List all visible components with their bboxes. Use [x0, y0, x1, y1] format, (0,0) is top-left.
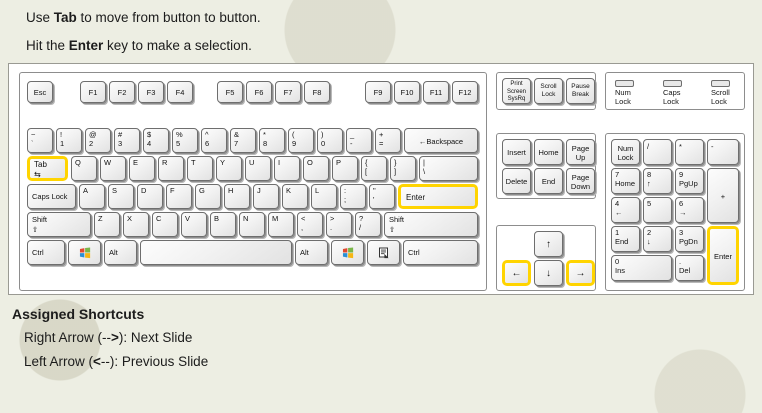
key-alt-right[interactable]: Alt	[295, 240, 328, 265]
key-esc[interactable]: Esc	[27, 81, 53, 103]
key-f12[interactable]: F12	[452, 81, 478, 103]
key-caps-lock[interactable]: Caps Lock	[27, 184, 76, 209]
windows-logo-icon	[342, 247, 353, 258]
key-k[interactable]: K	[282, 184, 308, 209]
key-q[interactable]: Q	[71, 156, 97, 181]
shortcut-left-arrow: Left Arrow (<--): Previous Slide	[24, 353, 762, 371]
shortcut-right-post: ): Next Slide	[119, 330, 193, 345]
key-y[interactable]: Y	[216, 156, 242, 181]
key-f9[interactable]: F9	[365, 81, 391, 103]
key-print-screen[interactable]: Print Screen SysRq	[502, 78, 531, 104]
key-period[interactable]: > .	[326, 212, 352, 237]
key-a[interactable]: A	[79, 184, 105, 209]
intro-line2-post: key to make a selection.	[103, 38, 252, 53]
key-f[interactable]: F	[166, 184, 192, 209]
key-f2[interactable]: F2	[109, 81, 135, 103]
key-u[interactable]: U	[245, 156, 271, 181]
key-0[interactable]: ) 0	[317, 128, 343, 153]
key-n[interactable]: N	[239, 212, 265, 237]
key-space[interactable]	[140, 240, 292, 265]
lamp-label-caps-lock: Caps Lock	[663, 89, 681, 106]
key-insert[interactable]: Insert	[502, 139, 531, 165]
key-bracket-right[interactable]: } ]	[390, 156, 416, 181]
key-1[interactable]: ! 1	[56, 128, 82, 153]
key-e[interactable]: E	[129, 156, 155, 181]
key-numpad-add[interactable]: +	[707, 168, 739, 223]
intro-line1-bold: Tab	[54, 10, 77, 25]
key-num-lock[interactable]: Num Lock	[611, 139, 640, 165]
shortcut-right-bold: >	[111, 330, 119, 345]
key-numpad-6[interactable]: 6 →	[675, 197, 704, 223]
key-j[interactable]: J	[253, 184, 279, 209]
key-numpad-0[interactable]: 0 Ins	[611, 255, 672, 281]
key-comma[interactable]: < ,	[297, 212, 323, 237]
assigned-shortcuts-section: Assigned Shortcuts Right Arrow (-->): Ne…	[0, 295, 762, 370]
key-f8[interactable]: F8	[304, 81, 330, 103]
key-2[interactable]: @ 2	[85, 128, 111, 153]
key-b[interactable]: B	[210, 212, 236, 237]
shortcut-left-bold: <	[93, 354, 101, 369]
lamp-caps-lock	[663, 80, 682, 87]
key-7[interactable]: & 7	[230, 128, 256, 153]
key-f10[interactable]: F10	[394, 81, 420, 103]
lamp-scroll-lock	[711, 80, 730, 87]
key-enter[interactable]: Enter	[398, 184, 478, 209]
key-ctrl-left[interactable]: Ctrl	[27, 240, 65, 265]
intro-line2-bold: Enter	[69, 38, 104, 53]
key-arrow-down[interactable]: ↓	[534, 260, 563, 286]
lamp-num-lock	[615, 80, 634, 87]
key-alt-left[interactable]: Alt	[104, 240, 137, 265]
key-d[interactable]: D	[137, 184, 163, 209]
key-numpad-1[interactable]: 1 End	[611, 226, 640, 252]
key-shift-left[interactable]: Shift ⇧	[27, 212, 91, 237]
key-arrow-left[interactable]: ←	[502, 260, 531, 286]
key-win-right[interactable]	[331, 240, 364, 265]
key-f7[interactable]: F7	[275, 81, 301, 103]
key-minus[interactable]: _ -	[346, 128, 372, 153]
intro-instructions: Use Tab to move from button to button. H…	[0, 0, 762, 55]
shortcut-right-pre: Right Arrow (--	[24, 330, 111, 345]
key-m[interactable]: M	[268, 212, 294, 237]
key-numpad-enter[interactable]: Enter	[707, 226, 739, 285]
key-o[interactable]: O	[303, 156, 329, 181]
key-5[interactable]: % 5	[172, 128, 198, 153]
key-g[interactable]: G	[195, 184, 221, 209]
key-l[interactable]: L	[311, 184, 337, 209]
key-s[interactable]: S	[108, 184, 134, 209]
key-win-left[interactable]	[68, 240, 101, 265]
key-6[interactable]: ^ 6	[201, 128, 227, 153]
key-bracket-left[interactable]: { [	[361, 156, 387, 181]
key-quote[interactable]: " '	[369, 184, 395, 209]
assigned-shortcuts-title: Assigned Shortcuts	[12, 306, 762, 322]
indicator-lamps: Num Lock Caps Lock Scroll Lock	[605, 72, 745, 110]
key-delete[interactable]: Delete	[502, 168, 531, 194]
lamp-label-num-lock: Num Lock	[615, 89, 631, 106]
shortcut-right-arrow: Right Arrow (-->): Next Slide	[24, 329, 762, 347]
intro-line-tab: Use Tab to move from button to button.	[26, 9, 762, 27]
key-x[interactable]: X	[123, 212, 149, 237]
key-numpad-5[interactable]: 5	[643, 197, 672, 223]
key-backslash[interactable]: | \	[419, 156, 478, 181]
context-menu-icon	[379, 247, 389, 258]
key-arrow-up[interactable]: ↑	[534, 231, 563, 257]
intro-line2-pre: Hit the	[26, 38, 69, 53]
key-p[interactable]: P	[332, 156, 358, 181]
key-numpad-divide[interactable]: /	[643, 139, 672, 165]
key-numpad-decimal[interactable]: . Del	[675, 255, 704, 281]
key-f4[interactable]: F4	[167, 81, 193, 103]
key-slash[interactable]: ? /	[355, 212, 381, 237]
key-numpad-3[interactable]: 3 PgDn	[675, 226, 704, 252]
intro-line-enter: Hit the Enter key to make a selection.	[26, 37, 762, 55]
key-numpad-4[interactable]: 4 ←	[611, 197, 640, 223]
key-w[interactable]: W	[100, 156, 126, 181]
key-home[interactable]: Home	[534, 139, 563, 165]
key-h[interactable]: H	[224, 184, 250, 209]
key-backspace[interactable]: ←Backspace	[404, 128, 478, 153]
key-4[interactable]: $ 4	[143, 128, 169, 153]
key-t[interactable]: T	[187, 156, 213, 181]
key-tab[interactable]: Tab ⇆	[27, 156, 68, 181]
key-c[interactable]: C	[152, 212, 178, 237]
key-end[interactable]: End	[534, 168, 563, 194]
key-f3[interactable]: F3	[138, 81, 164, 103]
key-f5[interactable]: F5	[217, 81, 243, 103]
key-ctrl-right[interactable]: Ctrl	[403, 240, 478, 265]
key-shift-right[interactable]: Shift ⇧	[384, 212, 478, 237]
key-numpad-9[interactable]: 9 PgUp	[675, 168, 704, 194]
key-context-menu[interactable]	[367, 240, 400, 265]
key-v[interactable]: V	[181, 212, 207, 237]
key-numpad-8[interactable]: 8 ↑	[643, 168, 672, 194]
key-numpad-7[interactable]: 7 Home	[611, 168, 640, 194]
key-8[interactable]: * 8	[259, 128, 285, 153]
key-scroll-lock[interactable]: Scroll Lock	[534, 78, 563, 104]
key-3[interactable]: # 3	[114, 128, 140, 153]
key-r[interactable]: R	[158, 156, 184, 181]
key-equals[interactable]: + =	[375, 128, 401, 153]
key-numpad-multiply[interactable]: *	[675, 139, 704, 165]
windows-logo-icon	[79, 247, 90, 258]
key-pause-break[interactable]: Pause Break	[566, 78, 595, 104]
keyboard-panel: Esc F1 F2 F3 F4 F5 F6 F7 F8 F9 F10 F11 F…	[8, 63, 754, 295]
intro-line1-post: to move from button to button.	[77, 10, 261, 25]
key-i[interactable]: I	[274, 156, 300, 181]
key-9[interactable]: ( 9	[288, 128, 314, 153]
key-numpad-subtract[interactable]: -	[707, 139, 739, 165]
key-f11[interactable]: F11	[423, 81, 449, 103]
key-semicolon[interactable]: : ;	[340, 184, 366, 209]
key-f6[interactable]: F6	[246, 81, 272, 103]
shortcut-left-post: --): Previous Slide	[101, 354, 208, 369]
key-page-up[interactable]: Page Up	[566, 139, 595, 165]
page-root: Use Tab to move from button to button. H…	[0, 0, 762, 371]
shortcut-left-pre: Left Arrow (	[24, 354, 93, 369]
key-page-down[interactable]: Page Down	[566, 168, 595, 194]
key-numpad-2[interactable]: 2 ↓	[643, 226, 672, 252]
key-arrow-right[interactable]: →	[566, 260, 595, 286]
key-f1[interactable]: F1	[80, 81, 106, 103]
lamp-label-scroll-lock: Scroll Lock	[711, 89, 730, 106]
intro-line1-pre: Use	[26, 10, 54, 25]
key-z[interactable]: Z	[94, 212, 120, 237]
key-backtick[interactable]: ~ `	[27, 128, 53, 153]
